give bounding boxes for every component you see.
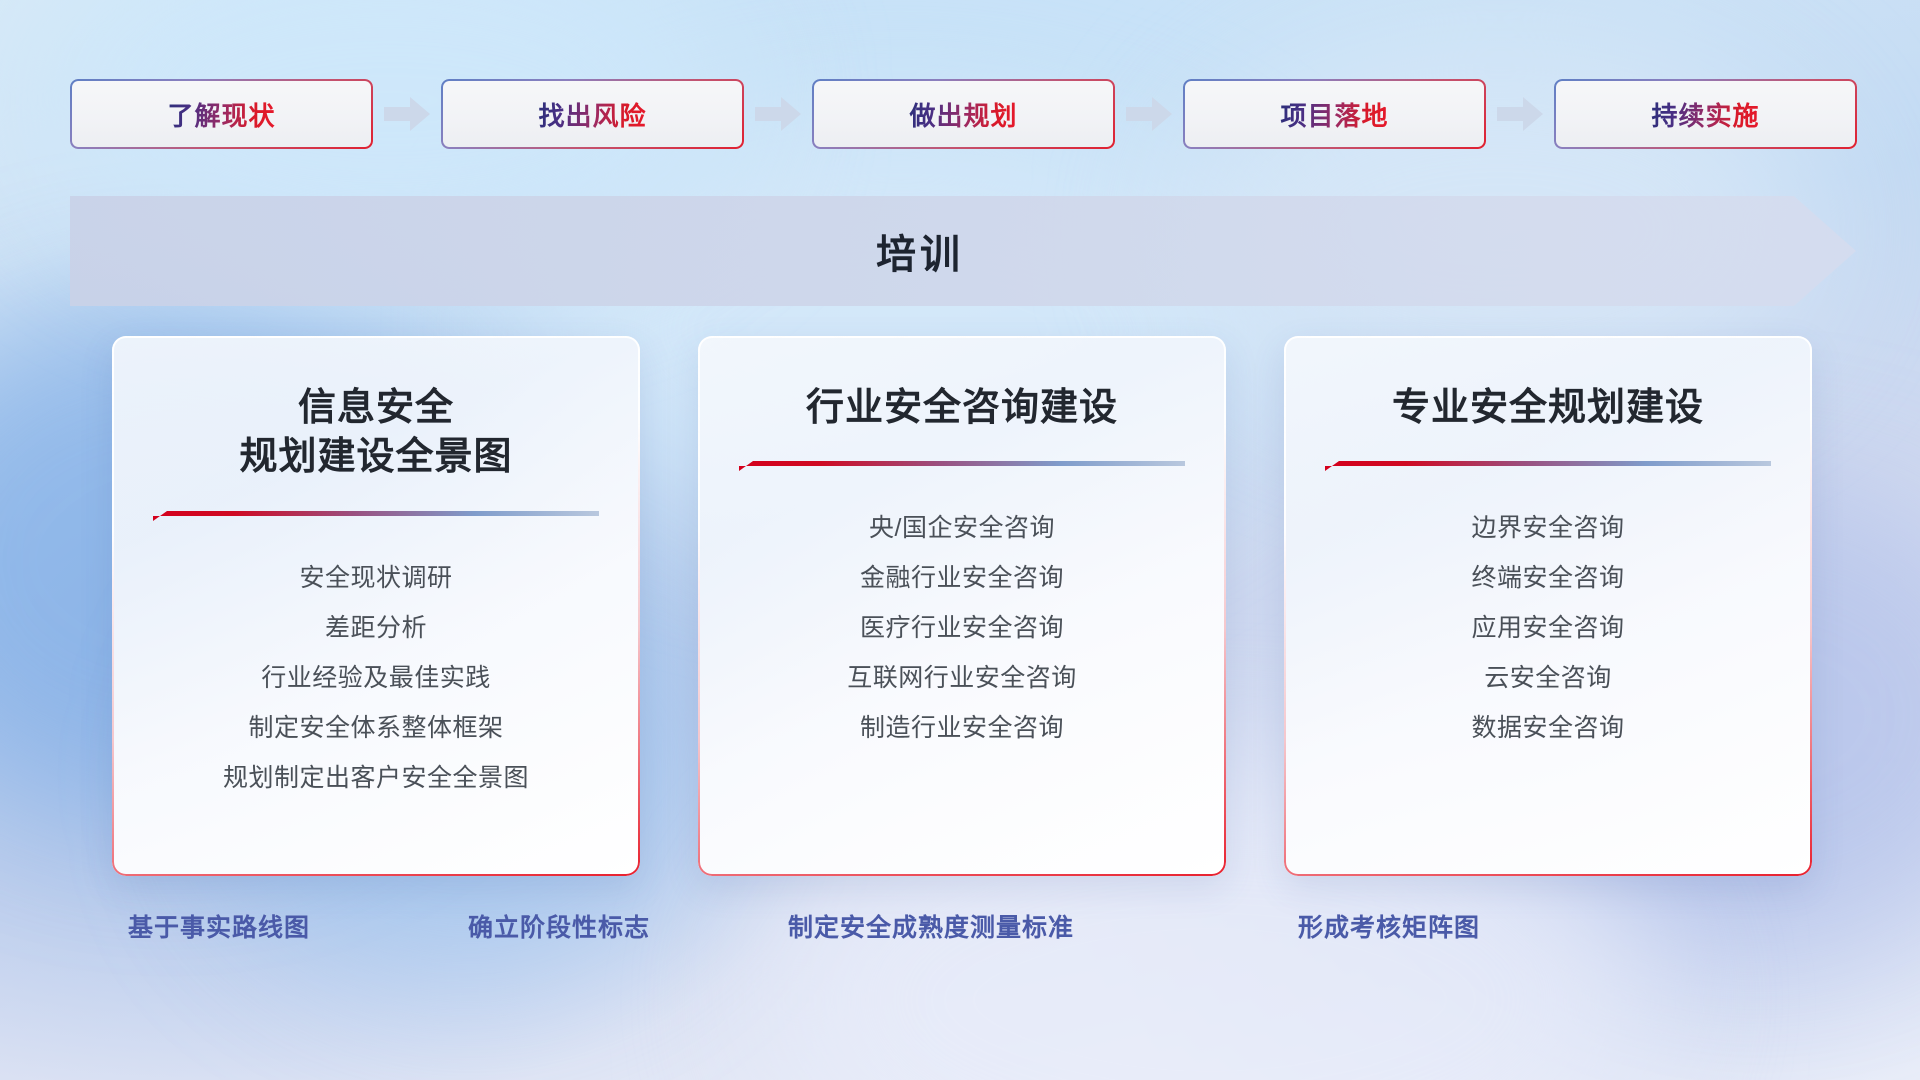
card-item-list: 央/国企安全咨询 金融行业安全咨询 医疗行业安全咨询 互联网行业安全咨询 制造行…	[698, 473, 1226, 753]
caption-roadmap: 基于事实路线图	[128, 908, 310, 944]
card-industry-security-consulting[interactable]: 行业安全咨询建设 央/国企安全咨询	[698, 336, 1226, 876]
process-step-3[interactable]: 做出规划	[812, 79, 1115, 149]
list-item: 制造行业安全咨询	[718, 703, 1206, 753]
card-divider	[1325, 459, 1771, 473]
chevron-right-icon	[1486, 79, 1554, 149]
list-item: 互联网行业安全咨询	[718, 653, 1206, 703]
caption-milestones: 确立阶段性标志	[468, 908, 650, 944]
training-arrow-band: 培训	[70, 196, 1856, 306]
card-divider	[739, 459, 1185, 473]
card-item-list: 安全现状调研 差距分析 行业经验及最佳实践 制定安全体系整体框架 规划制定出客户…	[112, 523, 640, 803]
list-item: 数据安全咨询	[1304, 703, 1792, 753]
list-item: 终端安全咨询	[1304, 553, 1792, 603]
process-step-5[interactable]: 持续实施	[1554, 79, 1857, 149]
caption-row: 基于事实路线图 确立阶段性标志 制定安全成熟度测量标准 形成考核矩阵图	[0, 908, 1920, 956]
list-item: 规划制定出客户安全全景图	[132, 753, 620, 803]
training-band-label: 培训	[70, 196, 1770, 306]
process-step-1[interactable]: 了解现状	[70, 79, 373, 149]
list-item: 医疗行业安全咨询	[718, 603, 1206, 653]
list-item: 行业经验及最佳实践	[132, 653, 620, 703]
card-information-security-blueprint[interactable]: 信息安全 规划建设全景图 安全现状调研	[112, 336, 640, 876]
list-item: 差距分析	[132, 603, 620, 653]
process-step-row: 了解现状 找出风险 做出规划 项目落地	[70, 78, 1856, 150]
process-step-label: 做出规划	[909, 96, 1017, 133]
card-item-list: 边界安全咨询 终端安全咨询 应用安全咨询 云安全咨询 数据安全咨询	[1284, 473, 1812, 753]
process-step-2[interactable]: 找出风险	[441, 79, 744, 149]
chevron-right-icon	[373, 79, 441, 149]
list-item: 安全现状调研	[132, 553, 620, 603]
process-step-label: 项目落地	[1280, 96, 1388, 133]
process-step-4[interactable]: 项目落地	[1183, 79, 1486, 149]
card-title: 信息安全 规划建设全景图	[112, 336, 640, 483]
card-title: 专业安全规划建设	[1284, 336, 1812, 433]
list-item: 金融行业安全咨询	[718, 553, 1206, 603]
caption-assessment-matrix: 形成考核矩阵图	[1298, 908, 1480, 944]
list-item: 央/国企安全咨询	[718, 503, 1206, 553]
card-professional-security-planning[interactable]: 专业安全规划建设 边界安全咨询	[1284, 336, 1812, 876]
list-item: 边界安全咨询	[1304, 503, 1792, 553]
slide-canvas: 了解现状 找出风险 做出规划 项目落地	[0, 0, 1920, 1080]
process-step-label: 持续实施	[1651, 96, 1759, 133]
process-step-label: 找出风险	[538, 96, 646, 133]
card-row: 信息安全 规划建设全景图 安全现状调研	[112, 336, 1812, 876]
chevron-right-icon	[744, 79, 812, 149]
chevron-right-icon	[1115, 79, 1183, 149]
card-divider	[153, 509, 599, 523]
process-step-label: 了解现状	[167, 96, 275, 133]
caption-maturity-standard: 制定安全成熟度测量标准	[788, 908, 1074, 944]
list-item: 云安全咨询	[1304, 653, 1792, 703]
list-item: 制定安全体系整体框架	[132, 703, 620, 753]
card-title: 行业安全咨询建设	[698, 336, 1226, 433]
list-item: 应用安全咨询	[1304, 603, 1792, 653]
